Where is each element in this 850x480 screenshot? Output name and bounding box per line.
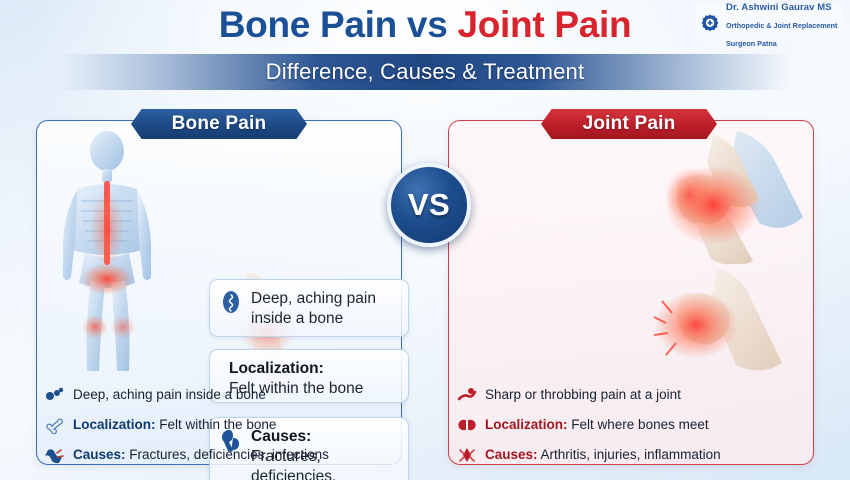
list-item-text: Causes: Arthritis, injuries, inflammatio… [485,446,721,464]
list-item: Localization: Felt within the bone [45,410,393,440]
title-bone-pain: Bone Pain vs [219,4,458,45]
title-joint-pain: Joint Pain [457,4,631,45]
bone-card-description-text: Deep, aching pain inside a bone [251,289,376,329]
list-item-text: Localization: Felt within the bone [73,416,276,434]
list-item: Sharp or throbbing pain at a joint [457,380,805,410]
bone-pain-summary-list: Deep, aching pain inside a bone Localiza… [45,380,393,470]
broken-bone-icon [45,446,65,464]
logo-doctor-name: Dr. Ashwini Gaurav MS [726,2,832,13]
list-item-text: Causes: Fractures, deficiencies, infecti… [73,446,329,464]
vs-badge: VS [387,163,471,247]
infographic-canvas: Bone Pain vs Joint Pain Difference, Caus… [0,0,850,480]
joint-pain-summary-list: Sharp or throbbing pain at a joint Local… [457,380,805,470]
bone-card-description: Deep, aching pain inside a bone [209,279,409,337]
inflammation-burst-icon [457,446,477,464]
logo-specialty: Orthopedic & Joint Replacement [726,21,837,30]
skeleton-full-body-image [41,129,176,377]
logo-location: Surgeon Patna [726,39,777,48]
joint-circle-red-icon [457,416,477,434]
list-item-text: Localization: Felt where bones meet [485,416,709,434]
clinic-logo: Dr. Ashwini Gaurav MS Orthopedic & Joint… [696,6,842,42]
bone-pain-banner: Bone Pain [131,109,307,139]
page-subtitle: Difference, Causes & Treatment [0,55,850,89]
bone-spine-oval-icon [220,290,242,314]
logo-text-block: Dr. Ashwini Gaurav MS Orthopedic & Joint… [726,0,837,51]
list-item: Localization: Felt where bones meet [457,410,805,440]
knee-joint-inflamed-image [617,129,807,264]
knee-joint-arthritis-image [622,269,807,379]
list-item: Deep, aching pain inside a bone [45,380,393,410]
list-item-text: Deep, aching pain inside a bone [73,386,266,404]
joint-pain-red-icon [457,386,477,404]
list-item: Causes: Arthritis, injuries, inflammatio… [457,440,805,470]
bone-outline-icon [45,416,65,434]
list-item: Causes: Fractures, deficiencies, infecti… [45,440,393,470]
list-item-text: Sharp or throbbing pain at a joint [485,386,681,404]
bone-cluster-icon [45,386,65,404]
gear-medical-cross-icon [699,13,721,35]
joint-pain-banner: Joint Pain [541,109,717,139]
